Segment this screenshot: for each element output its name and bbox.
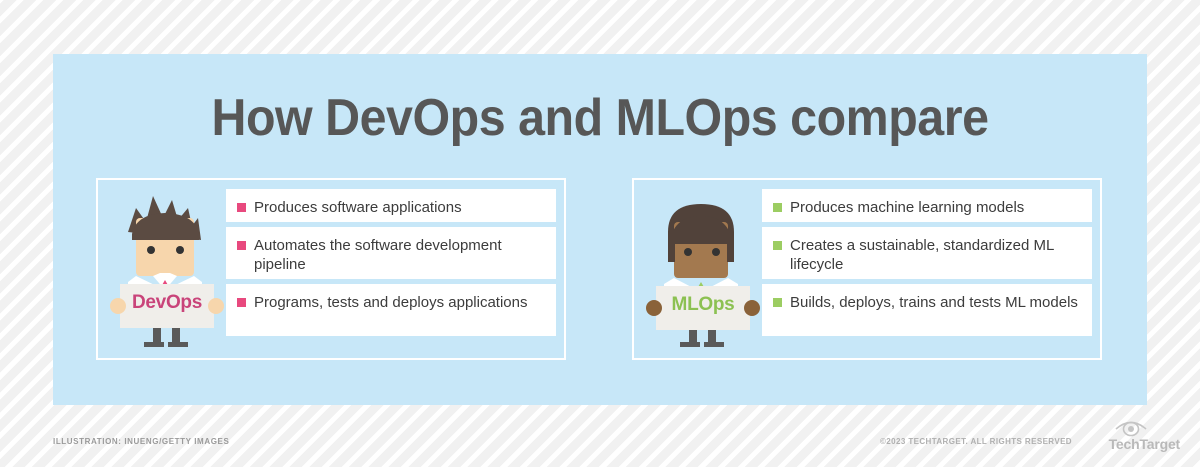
card-mlops: MLOps Produces machine learning models C… bbox=[632, 178, 1102, 360]
infographic-panel: How DevOps and MLOps compare bbox=[53, 54, 1147, 405]
page-title: How DevOps and MLOps compare bbox=[91, 88, 1108, 148]
illustration-credit: ILLUSTRATION: INUENG/GETTY IMAGES bbox=[53, 437, 229, 446]
devops-bullet-list: Produces software applications Automates… bbox=[226, 189, 556, 341]
list-item: Automates the software development pipel… bbox=[226, 227, 556, 279]
list-item: Programs, tests and deploys applications bbox=[226, 284, 556, 336]
devops-sign-label: DevOps bbox=[120, 292, 214, 314]
list-item-text: Automates the software development pipel… bbox=[254, 236, 546, 274]
list-item: Creates a sustainable, standardized ML l… bbox=[762, 227, 1092, 279]
bullet-square-icon bbox=[773, 241, 782, 250]
list-item-text: Builds, deploys, trains and tests ML mod… bbox=[790, 293, 1078, 312]
techtarget-wordmark: TechTarget bbox=[1109, 436, 1180, 452]
mlops-bullet-list: Produces machine learning models Creates… bbox=[762, 189, 1092, 341]
card-devops: DevOps Produces software applications Au… bbox=[96, 178, 566, 360]
bullet-square-icon bbox=[237, 241, 246, 250]
bullet-square-icon bbox=[237, 203, 246, 212]
list-item-text: Produces machine learning models bbox=[790, 198, 1024, 217]
devops-character: DevOps bbox=[106, 188, 228, 352]
list-item: Produces software applications bbox=[226, 189, 556, 222]
list-item-text: Produces software applications bbox=[254, 198, 462, 217]
bullet-square-icon bbox=[773, 203, 782, 212]
copyright-notice: ©2023 TECHTARGET. ALL RIGHTS RESERVED bbox=[880, 437, 1072, 446]
devops-character-svg bbox=[106, 188, 228, 352]
list-item-text: Creates a sustainable, standardized ML l… bbox=[790, 236, 1082, 274]
mlops-character-svg bbox=[642, 188, 764, 352]
mlops-character: MLOps bbox=[642, 188, 764, 352]
bullet-square-icon bbox=[773, 298, 782, 307]
techtarget-logo: TechTarget bbox=[1080, 418, 1180, 452]
list-item: Produces machine learning models bbox=[762, 189, 1092, 222]
list-item: Builds, deploys, trains and tests ML mod… bbox=[762, 284, 1092, 336]
list-item-text: Programs, tests and deploys applications bbox=[254, 293, 527, 312]
mlops-sign-label: MLOps bbox=[656, 294, 750, 316]
bullet-square-icon bbox=[237, 298, 246, 307]
